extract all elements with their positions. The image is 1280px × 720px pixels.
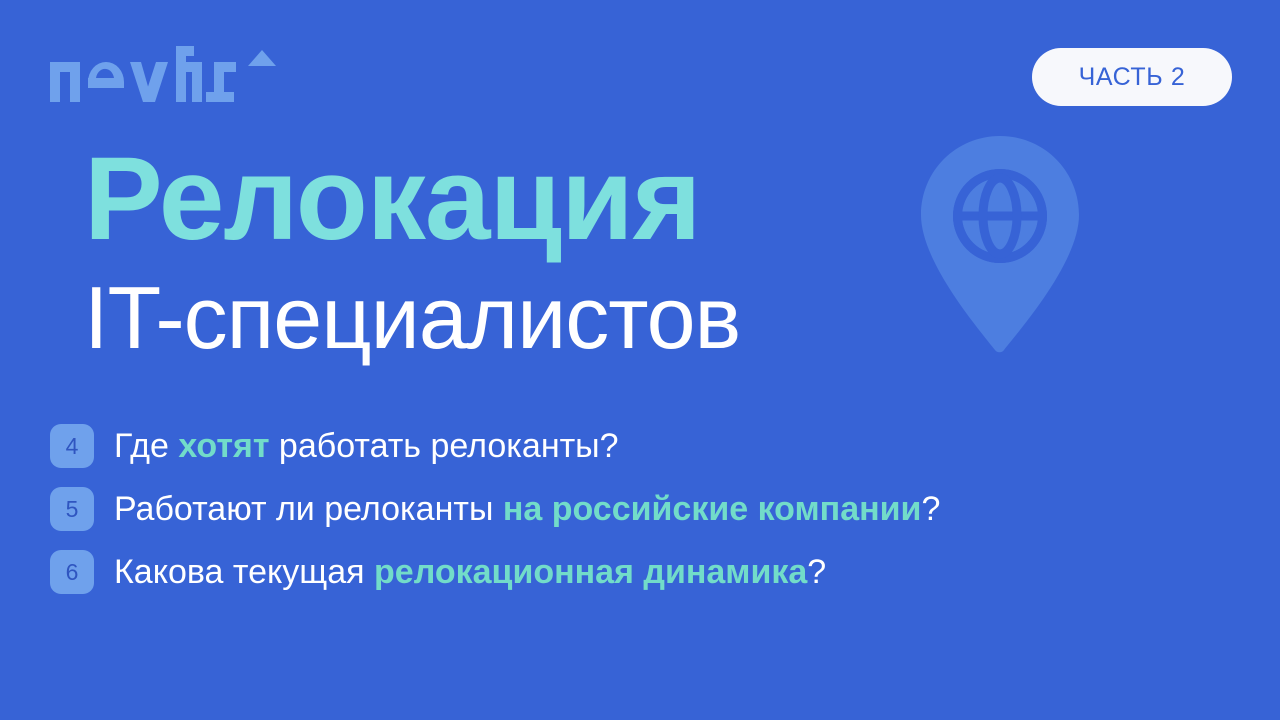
page-title: Релокация (84, 140, 924, 258)
page-subtitle: IT-специалистов (84, 270, 924, 366)
question-number-badge: 6 (50, 550, 94, 594)
logo-newhr[interactable]: newhr (50, 46, 278, 102)
question-text: Где хотят работать релоканты? (114, 426, 619, 466)
plain-text: работать релоканты? (269, 427, 618, 465)
list-item[interactable]: 4 Где хотят работать релоканты? (50, 424, 940, 468)
plain-text: ? (807, 553, 826, 591)
slide-root: newhr ЧАСТЬ 2 Релокация IT-специалистов (0, 0, 1280, 720)
map-pin-globe-icon (915, 134, 1085, 374)
plain-text: Какова текущая (114, 553, 374, 591)
logo-wordmark-icon (50, 46, 278, 102)
highlighted-text: хотят (178, 427, 269, 465)
plain-text: ? (921, 490, 940, 528)
list-item[interactable]: 6 Какова текущая релокационная динамика? (50, 550, 940, 594)
question-text: Работают ли релоканты на российские комп… (114, 489, 940, 529)
question-list: 4 Где хотят работать релоканты? 5 Работа… (50, 424, 940, 594)
question-text: Какова текущая релокационная динамика? (114, 552, 826, 592)
plain-text: Где (114, 427, 178, 465)
highlighted-text: на российские компании (503, 490, 922, 528)
part-badge: ЧАСТЬ 2 (1032, 48, 1232, 106)
title-block: Релокация IT-специалистов (84, 140, 924, 366)
list-item[interactable]: 5 Работают ли релоканты на российские ко… (50, 487, 940, 531)
question-number-badge: 5 (50, 487, 94, 531)
plain-text: Работают ли релоканты (114, 490, 503, 528)
highlighted-text: релокационная динамика (374, 553, 807, 591)
question-number-badge: 4 (50, 424, 94, 468)
